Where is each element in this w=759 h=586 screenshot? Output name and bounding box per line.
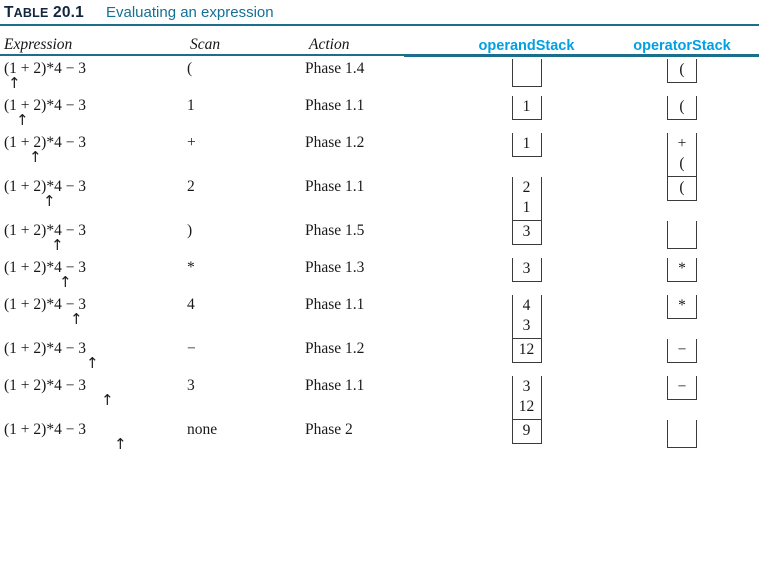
stack-item: 2 — [523, 178, 531, 198]
cell-operator-stack: ( — [605, 96, 759, 120]
expression-text: (1 + 2)*4 − 3 — [4, 221, 186, 240]
cell-operand-stack: 3 — [448, 221, 605, 245]
operator-stack: * — [667, 258, 697, 282]
operand-stack: 1 — [512, 96, 542, 120]
stack-item: ( — [679, 178, 684, 198]
operand-stack: 12 — [512, 339, 542, 363]
scan-pointer-row: ↑ — [4, 240, 186, 258]
table-row: (1 + 2)*4 − 3↑(Phase 1.4( — [0, 59, 759, 96]
operator-stack: +( — [667, 133, 697, 177]
scan-pointer-arrow-icon: ↑ — [8, 76, 21, 91]
stack-item: + — [678, 134, 687, 154]
cell-operand-stack: 9 — [448, 420, 605, 444]
cell-action: Phase 1.3 — [305, 258, 448, 277]
operator-stack — [667, 420, 697, 448]
cell-scan: 1 — [186, 96, 305, 115]
scan-pointer-arrow-icon: ↑ — [43, 194, 56, 209]
operand-stack: 21 — [512, 177, 542, 221]
table-row: (1 + 2)*4 − 3↑*Phase 1.33* — [0, 258, 759, 295]
table-header-row: Expression Scan Action operandStack oper… — [0, 26, 759, 54]
operator-stack: ( — [667, 59, 697, 83]
scan-pointer-arrow-icon: ↑ — [86, 356, 99, 371]
expression-text: (1 + 2)*4 − 3 — [4, 295, 186, 314]
stack-item: * — [678, 296, 686, 316]
cell-operand-stack: 3 — [448, 258, 605, 282]
table-header-rule — [0, 54, 759, 57]
stack-item: * — [678, 259, 686, 279]
cell-expression: (1 + 2)*4 − 3↑ — [0, 376, 186, 413]
stack-item: 9 — [523, 421, 531, 441]
cell-operand-stack: 1 — [448, 96, 605, 120]
expression-text: (1 + 2)*4 − 3 — [4, 376, 186, 395]
cell-operand-stack: 21 — [448, 177, 605, 221]
cell-action: Phase 1.1 — [305, 96, 448, 115]
cell-operand-stack: 12 — [448, 339, 605, 363]
cell-action: Phase 1.2 — [305, 133, 448, 152]
stack-item: 4 — [523, 296, 531, 316]
table-row: (1 + 2)*4 − 3↑2Phase 1.121( — [0, 177, 759, 221]
cell-expression: (1 + 2)*4 − 3↑ — [0, 221, 186, 258]
cell-operator-stack: ( — [605, 177, 759, 201]
column-header-scan: Scan — [186, 36, 305, 54]
cell-operand-stack — [448, 59, 605, 87]
cell-action: Phase 1.1 — [305, 376, 448, 395]
cell-expression: (1 + 2)*4 − 3↑ — [0, 295, 186, 332]
operand-stack — [512, 59, 542, 87]
operator-stack: ( — [667, 96, 697, 120]
stack-item: 3 — [523, 316, 531, 336]
stack-item: 12 — [519, 340, 535, 360]
table-row: (1 + 2)*4 − 3↑3Phase 1.1312− — [0, 376, 759, 420]
table-evaluating-an-expression: TABLE 20.1 Evaluating an expression Expr… — [0, 0, 759, 586]
scan-pointer-arrow-icon: ↑ — [29, 150, 42, 165]
stack-item: ( — [679, 60, 684, 80]
scan-pointer-row: ↑ — [4, 196, 186, 214]
cell-scan: none — [186, 420, 305, 439]
cell-expression: (1 + 2)*4 − 3↑ — [0, 258, 186, 295]
cell-action: Phase 1.1 — [305, 295, 448, 314]
stack-item: − — [678, 377, 687, 397]
table-header-rule-right — [404, 54, 759, 57]
scan-pointer-row: ↑ — [4, 277, 186, 295]
cell-expression: (1 + 2)*4 − 3↑ — [0, 96, 186, 133]
table-row: (1 + 2)*4 − 3↑nonePhase 29 — [0, 420, 759, 457]
scan-pointer-row: ↑ — [4, 152, 186, 170]
cell-scan: + — [186, 133, 305, 152]
table-caption-label: TABLE 20.1 — [4, 4, 84, 22]
cell-action: Phase 1.2 — [305, 339, 448, 358]
column-header-operand-stack: operandStack — [448, 38, 605, 54]
table-caption-title: Evaluating an expression — [106, 4, 274, 21]
table-row: (1 + 2)*4 − 3↑4Phase 1.143* — [0, 295, 759, 339]
cell-operator-stack: − — [605, 376, 759, 400]
cell-expression: (1 + 2)*4 − 3↑ — [0, 133, 186, 170]
stack-item: 1 — [523, 134, 531, 154]
operator-stack: − — [667, 376, 697, 400]
cell-expression: (1 + 2)*4 − 3↑ — [0, 177, 186, 214]
table-body: (1 + 2)*4 − 3↑(Phase 1.4((1 + 2)*4 − 3↑1… — [0, 57, 759, 457]
cell-operand-stack: 43 — [448, 295, 605, 339]
cell-operand-stack: 312 — [448, 376, 605, 420]
operator-stack: ( — [667, 177, 697, 201]
scan-pointer-arrow-icon: ↑ — [16, 113, 29, 128]
cell-scan: * — [186, 258, 305, 277]
table-caption-label-smallcaps: ABLE — [14, 6, 49, 20]
stack-item: ( — [679, 154, 684, 174]
table-row: (1 + 2)*4 − 3↑1Phase 1.11( — [0, 96, 759, 133]
cell-scan: ( — [186, 59, 305, 78]
scan-pointer-arrow-icon: ↑ — [101, 393, 114, 408]
operator-stack: * — [667, 295, 697, 319]
table-row: (1 + 2)*4 − 3↑−Phase 1.212− — [0, 339, 759, 376]
cell-scan: 4 — [186, 295, 305, 314]
stack-item: ( — [679, 97, 684, 117]
table-caption-number: 20.1 — [49, 4, 84, 21]
cell-operator-stack: − — [605, 339, 759, 363]
operand-stack: 312 — [512, 376, 542, 420]
operand-stack: 1 — [512, 133, 542, 157]
stack-item: 3 — [523, 259, 531, 279]
scan-pointer-arrow-icon: ↑ — [51, 238, 64, 253]
table-header-rule-left — [0, 54, 404, 56]
scan-pointer-arrow-icon: ↑ — [114, 437, 127, 452]
cell-expression: (1 + 2)*4 − 3↑ — [0, 420, 186, 457]
table-row: (1 + 2)*4 − 3↑+Phase 1.21+( — [0, 133, 759, 177]
stack-item: 3 — [523, 377, 531, 397]
cell-action: Phase 1.4 — [305, 59, 448, 78]
cell-expression: (1 + 2)*4 − 3↑ — [0, 59, 186, 96]
stack-item: 3 — [523, 222, 531, 242]
scan-pointer-arrow-icon: ↑ — [70, 312, 83, 327]
scan-pointer-row: ↑ — [4, 439, 186, 457]
operand-stack: 9 — [512, 420, 542, 444]
column-header-expression: Expression — [0, 36, 186, 54]
stack-item: 12 — [519, 397, 535, 417]
cell-operator-stack: +( — [605, 133, 759, 177]
stack-item: 1 — [523, 97, 531, 117]
cell-action: Phase 2 — [305, 420, 448, 439]
scan-pointer-row: ↑ — [4, 395, 186, 413]
operator-stack: − — [667, 339, 697, 363]
table-row: (1 + 2)*4 − 3↑)Phase 1.53 — [0, 221, 759, 258]
scan-pointer-row: ↑ — [4, 314, 186, 332]
table-caption: TABLE 20.1 Evaluating an expression — [0, 0, 759, 22]
cell-operator-stack: ( — [605, 59, 759, 83]
cell-operator-stack — [605, 420, 759, 448]
cell-action: Phase 1.1 — [305, 177, 448, 196]
column-header-operator-stack: operatorStack — [605, 38, 759, 54]
operand-stack: 3 — [512, 221, 542, 245]
cell-operator-stack — [605, 221, 759, 249]
scan-pointer-row: ↑ — [4, 115, 186, 133]
cell-operand-stack: 1 — [448, 133, 605, 157]
cell-operator-stack: * — [605, 295, 759, 319]
expression-text: (1 + 2)*4 − 3 — [4, 420, 186, 439]
cell-operator-stack: * — [605, 258, 759, 282]
expression-text: (1 + 2)*4 − 3 — [4, 59, 186, 78]
expression-text: (1 + 2)*4 − 3 — [4, 177, 186, 196]
expression-text: (1 + 2)*4 − 3 — [4, 96, 186, 115]
cell-scan: ) — [186, 221, 305, 240]
stack-item: − — [678, 340, 687, 360]
cell-scan: 3 — [186, 376, 305, 395]
cell-action: Phase 1.5 — [305, 221, 448, 240]
operand-stack: 3 — [512, 258, 542, 282]
cell-expression: (1 + 2)*4 − 3↑ — [0, 339, 186, 376]
stack-item: 1 — [523, 198, 531, 218]
scan-pointer-arrow-icon: ↑ — [59, 275, 72, 290]
cell-scan: − — [186, 339, 305, 358]
cell-scan: 2 — [186, 177, 305, 196]
scan-pointer-row: ↑ — [4, 78, 186, 96]
column-header-action: Action — [305, 36, 448, 54]
operand-stack: 43 — [512, 295, 542, 339]
operator-stack — [667, 221, 697, 249]
expression-text: (1 + 2)*4 − 3 — [4, 258, 186, 277]
scan-pointer-row: ↑ — [4, 358, 186, 376]
